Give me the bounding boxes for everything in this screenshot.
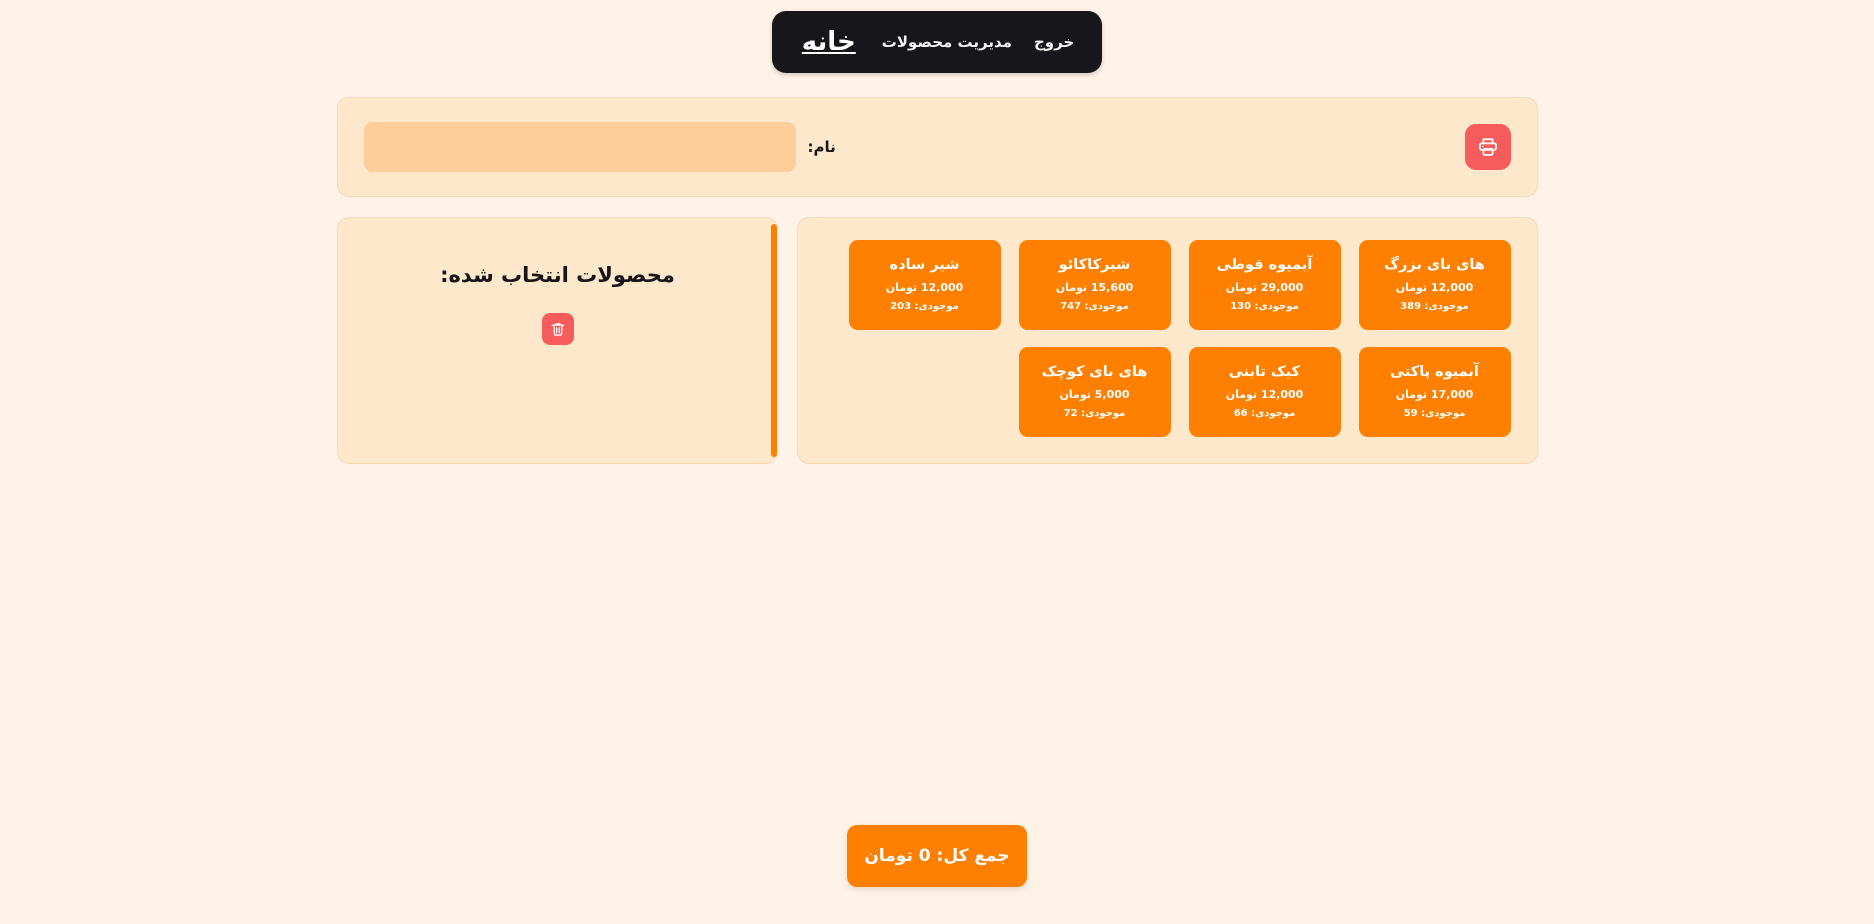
product-card-title: های بای کوچک: [1042, 365, 1148, 381]
product-card-stock: موجودی: 59: [1404, 409, 1466, 419]
product-card[interactable]: آبمیوه قوطی29,000 تومانموجودی: 130: [1189, 240, 1341, 330]
product-card-title: شیر ساده: [890, 258, 960, 274]
clear-selection-button[interactable]: [542, 313, 574, 345]
print-button[interactable]: [1465, 124, 1511, 170]
selected-products-panel: محصولات انتخاب شده:: [337, 217, 778, 464]
accent-bar: [771, 224, 777, 457]
product-card-title: های بای بزرگ: [1384, 258, 1485, 274]
product-card-stock: موجودی: 389: [1400, 302, 1469, 312]
total-button[interactable]: جمع کل: 0 تومان: [847, 825, 1027, 887]
product-cards-grid: های بای بزرگ12,000 تومانموجودی: 389آبمیو…: [824, 240, 1511, 437]
product-card-stock: موجودی: 130: [1230, 302, 1299, 312]
name-label: نام:: [808, 138, 836, 156]
product-card-title: آبمیوه قوطی: [1217, 258, 1313, 274]
selected-products-actions: [366, 313, 750, 345]
product-card-price: 5,000 تومان: [1060, 389, 1130, 400]
navbar-container: خروج مدیریت محصولات خانه: [0, 0, 1874, 73]
product-card-price: 12,000 تومان: [886, 282, 964, 293]
navbar-brand-home[interactable]: خانه: [802, 29, 856, 55]
product-card[interactable]: کیک تاینی12,000 تومانموجودی: 66: [1189, 347, 1341, 437]
nav-link-product-management[interactable]: مدیریت محصولات: [882, 33, 1012, 51]
product-card-price: 12,000 تومان: [1226, 389, 1304, 400]
product-card-stock: موجودی: 66: [1234, 409, 1296, 419]
total-container: جمع کل: 0 تومان: [0, 825, 1874, 887]
product-card-price: 15,600 تومان: [1056, 282, 1134, 293]
product-card-stock: موجودی: 747: [1060, 302, 1129, 312]
product-card[interactable]: آبمیوه پاکتی17,000 تومانموجودی: 59: [1359, 347, 1511, 437]
product-card-title: شیرکاکائو: [1059, 258, 1131, 274]
product-card-price: 17,000 تومان: [1396, 389, 1474, 400]
toolbar-panel: نام:: [337, 97, 1538, 197]
product-card[interactable]: شیرکاکائو15,600 تومانموجودی: 747: [1019, 240, 1171, 330]
navbar-links: خروج مدیریت محصولات: [882, 33, 1074, 51]
product-card[interactable]: های بای بزرگ12,000 تومانموجودی: 389: [1359, 240, 1511, 330]
product-card-price: 12,000 تومان: [1396, 282, 1474, 293]
printer-icon: [1477, 136, 1499, 158]
nav-link-logout[interactable]: خروج: [1034, 33, 1074, 51]
product-card-title: کیک تاینی: [1229, 365, 1300, 381]
name-input[interactable]: [364, 122, 796, 172]
selected-products-title: محصولات انتخاب شده:: [366, 263, 750, 288]
products-panel: های بای بزرگ12,000 تومانموجودی: 389آبمیو…: [797, 217, 1538, 464]
navbar: خروج مدیریت محصولات خانه: [772, 11, 1103, 73]
trash-icon: [550, 321, 566, 337]
name-field-group: نام:: [364, 122, 836, 172]
product-card[interactable]: شیر ساده12,000 تومانموجودی: 203: [849, 240, 1001, 330]
product-card[interactable]: های بای کوچک5,000 تومانموجودی: 72: [1019, 347, 1171, 437]
product-card-title: آبمیوه پاکتی: [1390, 365, 1479, 381]
product-card-stock: موجودی: 72: [1064, 409, 1126, 419]
product-card-price: 29,000 تومان: [1226, 282, 1304, 293]
main-content: های بای بزرگ12,000 تومانموجودی: 389آبمیو…: [337, 217, 1538, 464]
product-card-stock: موجودی: 203: [890, 302, 959, 312]
